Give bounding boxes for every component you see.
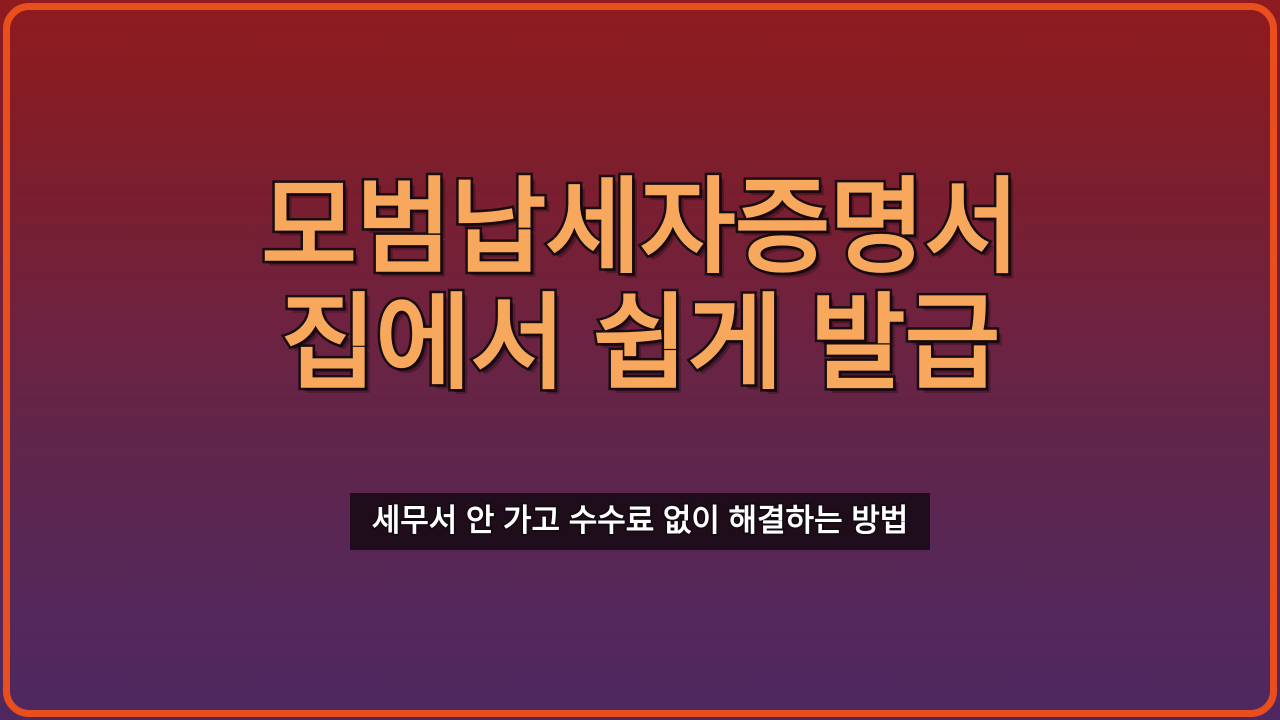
video-thumbnail: 모범납세자증명서 집에서 쉽게 발급 세무서 안 가고 수수료 없이 해결하는 …	[0, 0, 1280, 720]
title-line-1: 모범납세자증명서	[10, 170, 1270, 286]
page-title: 모범납세자증명서 집에서 쉽게 발급	[10, 170, 1270, 402]
title-block: 모범납세자증명서 집에서 쉽게 발급	[10, 170, 1270, 402]
subtitle-banner: 세무서 안 가고 수수료 없이 해결하는 방법	[350, 493, 931, 550]
subtitle-block: 세무서 안 가고 수수료 없이 해결하는 방법	[10, 493, 1270, 550]
thumbnail-stage: 모범납세자증명서 집에서 쉽게 발급 세무서 안 가고 수수료 없이 해결하는 …	[10, 10, 1270, 710]
title-line-2: 집에서 쉽게 발급	[10, 286, 1270, 402]
